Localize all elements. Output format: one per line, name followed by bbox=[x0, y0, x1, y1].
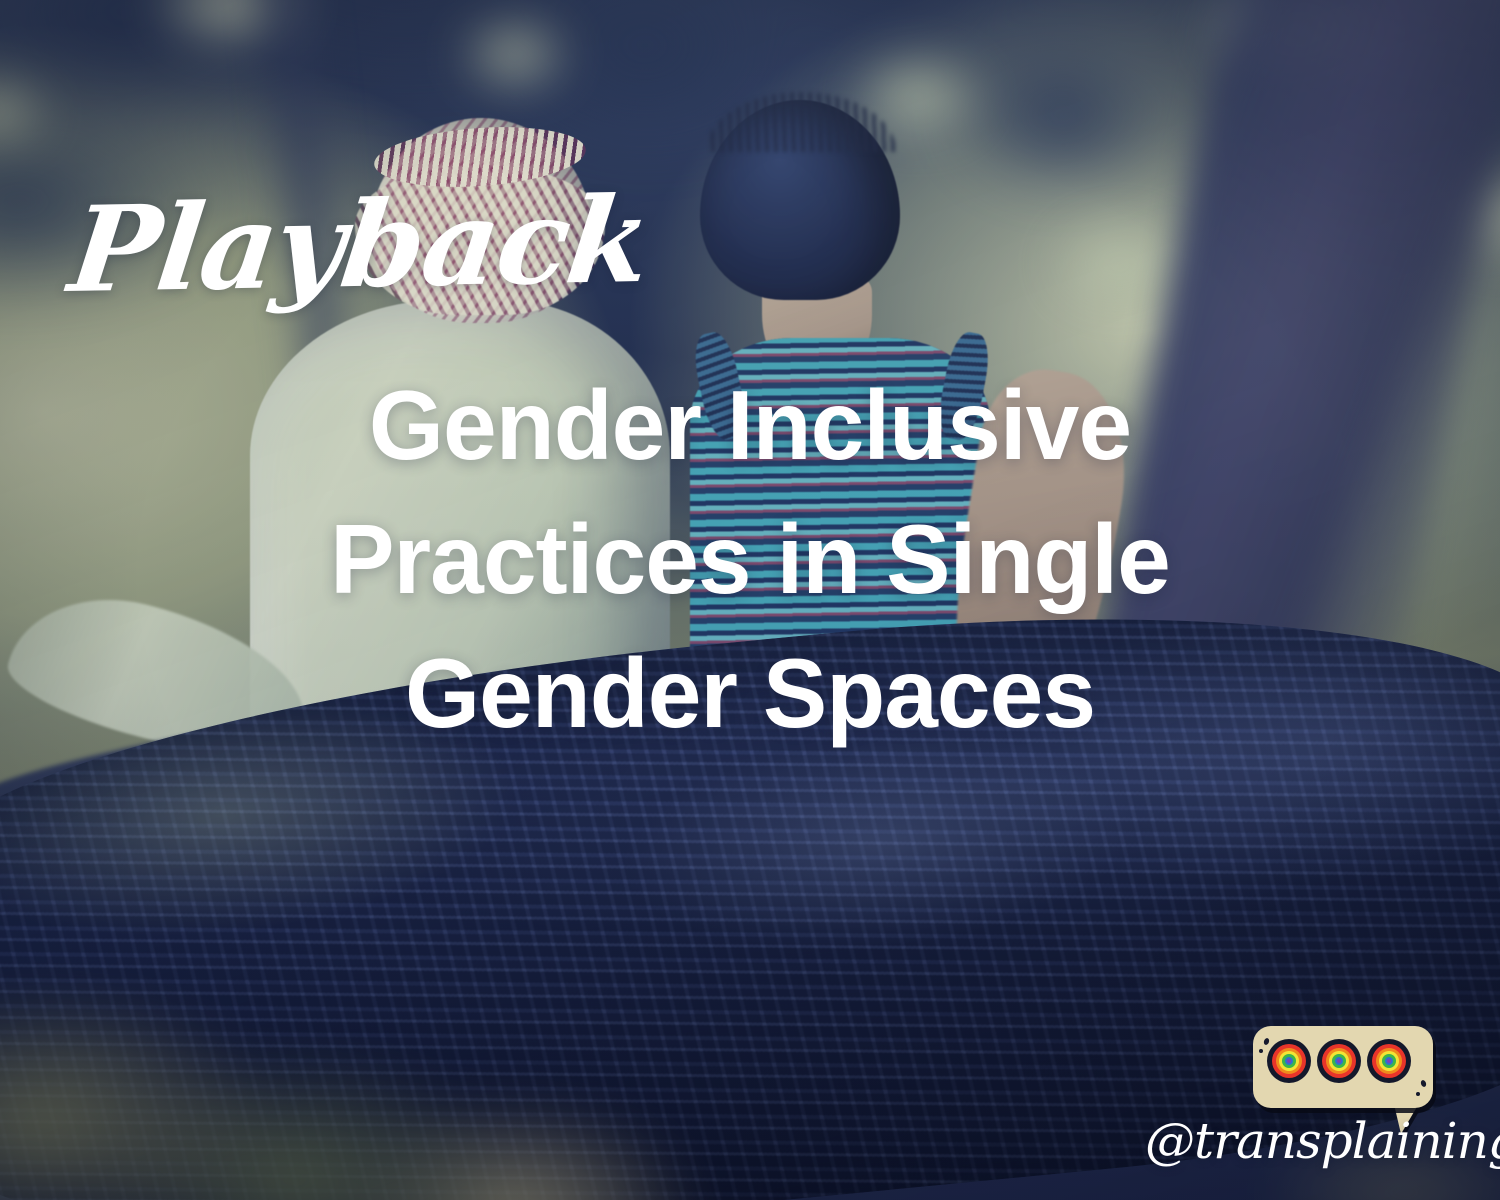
rainbow-eye-icon bbox=[1317, 1039, 1361, 1083]
rainbow-eye-icon bbox=[1367, 1039, 1411, 1083]
rainbow-eye-icon bbox=[1267, 1039, 1311, 1083]
page-title-line-3: Gender Spaces bbox=[11, 626, 1489, 760]
page-title-line-1: Gender Inclusive bbox=[11, 358, 1489, 492]
brand-logo: @transplaining bbox=[1145, 1018, 1465, 1188]
playback-social-card: Playback Gender Inclusive Practices in S… bbox=[0, 0, 1500, 1200]
page-title-line-2: Practices in Single bbox=[11, 492, 1489, 626]
bubble-fleck-icon bbox=[1259, 1049, 1263, 1053]
brand-handle: @transplaining bbox=[1145, 1116, 1465, 1166]
series-label: Playback bbox=[64, 181, 655, 309]
bubble-fleck-icon bbox=[1416, 1092, 1420, 1096]
page-title: Gender Inclusive Practices in Single Gen… bbox=[0, 358, 1500, 760]
